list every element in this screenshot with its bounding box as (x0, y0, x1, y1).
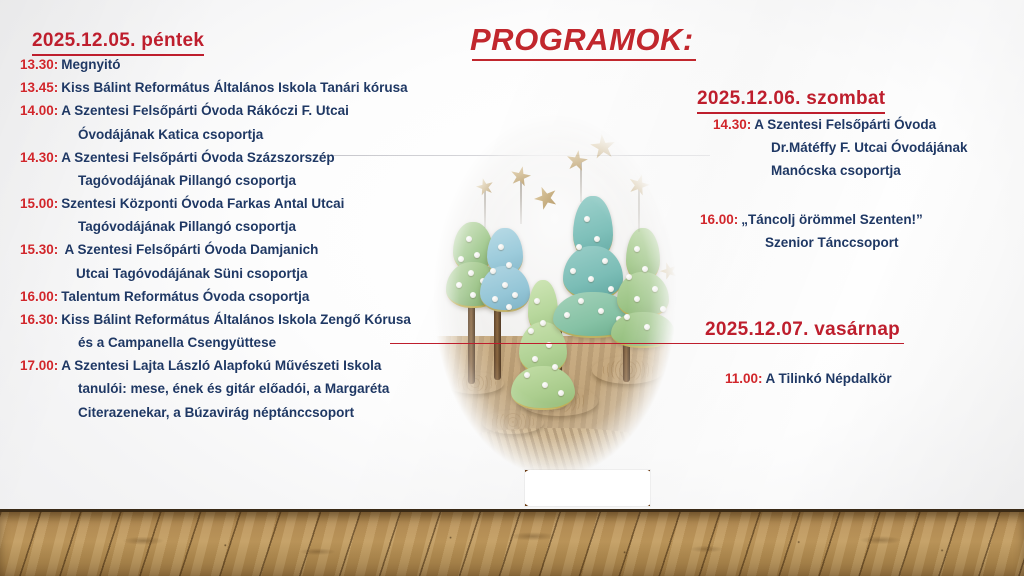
program-row: 14.30:A Szentesi Felsőpárti Óvoda Százsz… (20, 151, 520, 165)
program-row-continuation: Utcai Tagóvodájának Süni csoportja (20, 267, 520, 281)
program-time: 16.30: (20, 312, 58, 327)
program-time: 11.00: (725, 371, 763, 386)
program-row-continuation: Tagóvodájának Pillangó csoportja (20, 174, 520, 188)
day-heading-sunday: 2025.12.07. vasárnap (705, 319, 900, 341)
program-row: 11.00:A Tilinkó Népdalkör (665, 372, 1010, 386)
program-text: Talentum Református Óvoda csoportja (61, 289, 309, 304)
program-row-continuation: Szenior Tánccsoport (665, 236, 1010, 250)
program-time: 14.00: (20, 103, 58, 118)
day-heading-underline (32, 54, 204, 56)
program-text: Megnyitó (61, 57, 120, 72)
program-list-sunday: 11.00:A Tilinkó Népdalkör (665, 372, 1010, 395)
program-row: 16.00:„Táncolj örömmel Szenten!” (665, 213, 1010, 227)
program-row-continuation: tanulói: mese, ének és gitár előadói, a … (20, 382, 520, 396)
program-time: 13.30: (20, 57, 58, 72)
program-row: 14.00:A Szentesi Felsőpárti Óvoda Rákócz… (20, 104, 520, 118)
floor-grain (0, 512, 1024, 576)
page-title-text: PROGRAMOK: (470, 22, 694, 57)
program-row: 13.45:Kiss Bálint Református Általános I… (20, 81, 520, 95)
program-row: 16.00:Talentum Református Óvoda csoportj… (20, 290, 520, 304)
program-row: 16.30:Kiss Bálint Református Általános I… (20, 313, 520, 327)
program-row-continuation: Dr.Mátéffy F. Utcai Óvodájának (665, 141, 1010, 155)
day-heading-underline (390, 343, 904, 344)
day-heading-friday: 2025.12.05. péntek (32, 30, 204, 52)
program-time: 14.30: (713, 117, 751, 132)
page-title-underline (472, 59, 696, 61)
day-heading-sunday-text: 2025.12.07. vasárnap (705, 319, 900, 340)
program-row: 17.00:A Szentesi Lajta László Alapfokú M… (20, 359, 520, 373)
program-time: 14.30: (20, 150, 58, 165)
program-row: 14.30:A Szentesi Felsőpárti Óvoda (665, 118, 1010, 132)
program-time: 17.00: (20, 358, 58, 373)
star-wire (520, 178, 522, 224)
program-text: Kiss Bálint Református Általános Iskola … (61, 80, 407, 95)
page-title: PROGRAMOK: (470, 22, 694, 58)
program-text: Szentesi Központi Óvoda Farkas Antal Utc… (61, 196, 344, 211)
wooden-floor-strip (0, 509, 1024, 576)
day-heading-underline (697, 112, 885, 114)
program-list-friday: 13.30:Megnyitó 13.45:Kiss Bálint Reformá… (20, 58, 520, 429)
program-list-saturday: 14.30:A Szentesi Felsőpárti Óvoda Dr.Mát… (665, 118, 1010, 259)
program-text: A Szentesi Felsőpárti Óvoda Damjanich (61, 242, 318, 257)
program-text: Kiss Bálint Református Általános Iskola … (61, 312, 411, 327)
program-row: 15.00:Szentesi Központi Óvoda Farkas Ant… (20, 197, 520, 211)
program-row-continuation: Tagóvodájának Pillangó csoportja (20, 220, 520, 234)
program-time: 15.00: (20, 196, 58, 211)
program-time: 13.45: (20, 80, 58, 95)
program-text: „Táncolj örömmel Szenten!” (741, 212, 923, 227)
program-row-continuation: Citerazenekar, a Búzavirág néptánccsopor… (20, 406, 520, 420)
slide-canvas: PROGRAMOK: (0, 0, 1024, 576)
program-text: A Szentesi Felsőpárti Óvoda (754, 117, 936, 132)
program-text: A Szentesi Lajta László Alapfokú Művésze… (61, 358, 381, 373)
program-text: A Tilinkó Népdalkör (766, 371, 892, 386)
program-time: 16.00: (20, 289, 58, 304)
program-row: 15.30: A Szentesi Felsőpárti Óvoda Damja… (20, 243, 520, 257)
program-text: A Szentesi Felsőpárti Óvoda Rákóczi F. U… (61, 103, 349, 118)
star-wire (638, 188, 640, 232)
orange-slice-photo (525, 470, 650, 506)
program-row-continuation: Óvodájának Katica csoportja (20, 128, 520, 142)
program-time: 15.30: (20, 242, 58, 257)
program-text: A Szentesi Felsőpárti Óvoda Százszorszép (61, 150, 334, 165)
day-heading-saturday: 2025.12.06. szombat (697, 88, 885, 110)
day-heading-friday-text: 2025.12.05. péntek (32, 30, 204, 51)
orange-rind (525, 470, 650, 506)
day-heading-saturday-text: 2025.12.06. szombat (697, 88, 885, 109)
program-time: 16.00: (700, 212, 738, 227)
program-row: 13.30:Megnyitó (20, 58, 520, 72)
program-row-continuation: Manócska csoportja (665, 164, 1010, 178)
